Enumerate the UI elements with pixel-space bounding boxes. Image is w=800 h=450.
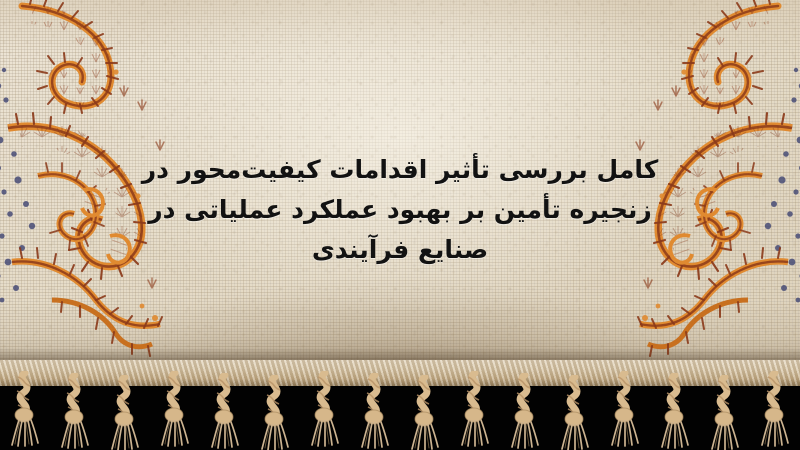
title-line-3: صنایع فرآیندی: [0, 230, 800, 270]
title-line-1: کامل بررسی تأثیر اقدامات کیفیت‌محور در: [0, 150, 800, 190]
tassel: [103, 375, 147, 450]
tassel: [553, 375, 597, 450]
tassel: [453, 371, 497, 447]
tassel: [353, 373, 397, 449]
tassel: [253, 375, 297, 450]
tassel: [3, 371, 47, 447]
tassel: [603, 371, 647, 447]
tassel: [703, 375, 747, 450]
tassel: [203, 373, 247, 449]
tassel: [53, 373, 97, 449]
title-line-2: زنجیره تأمین بر بهبود عملکرد عملیاتی در: [0, 190, 800, 230]
knotted-tassel-fringe: [0, 360, 800, 450]
title-card-canvas: کامل بررسی تأثیر اقدامات کیفیت‌محور در ز…: [0, 0, 800, 450]
page-title: کامل بررسی تأثیر اقدامات کیفیت‌محور در ز…: [0, 150, 800, 270]
tassel: [303, 371, 347, 447]
tassel: [503, 373, 547, 449]
tassel: [753, 371, 797, 447]
tassel: [403, 375, 447, 450]
tassel: [653, 373, 697, 449]
tassel: [153, 371, 197, 447]
